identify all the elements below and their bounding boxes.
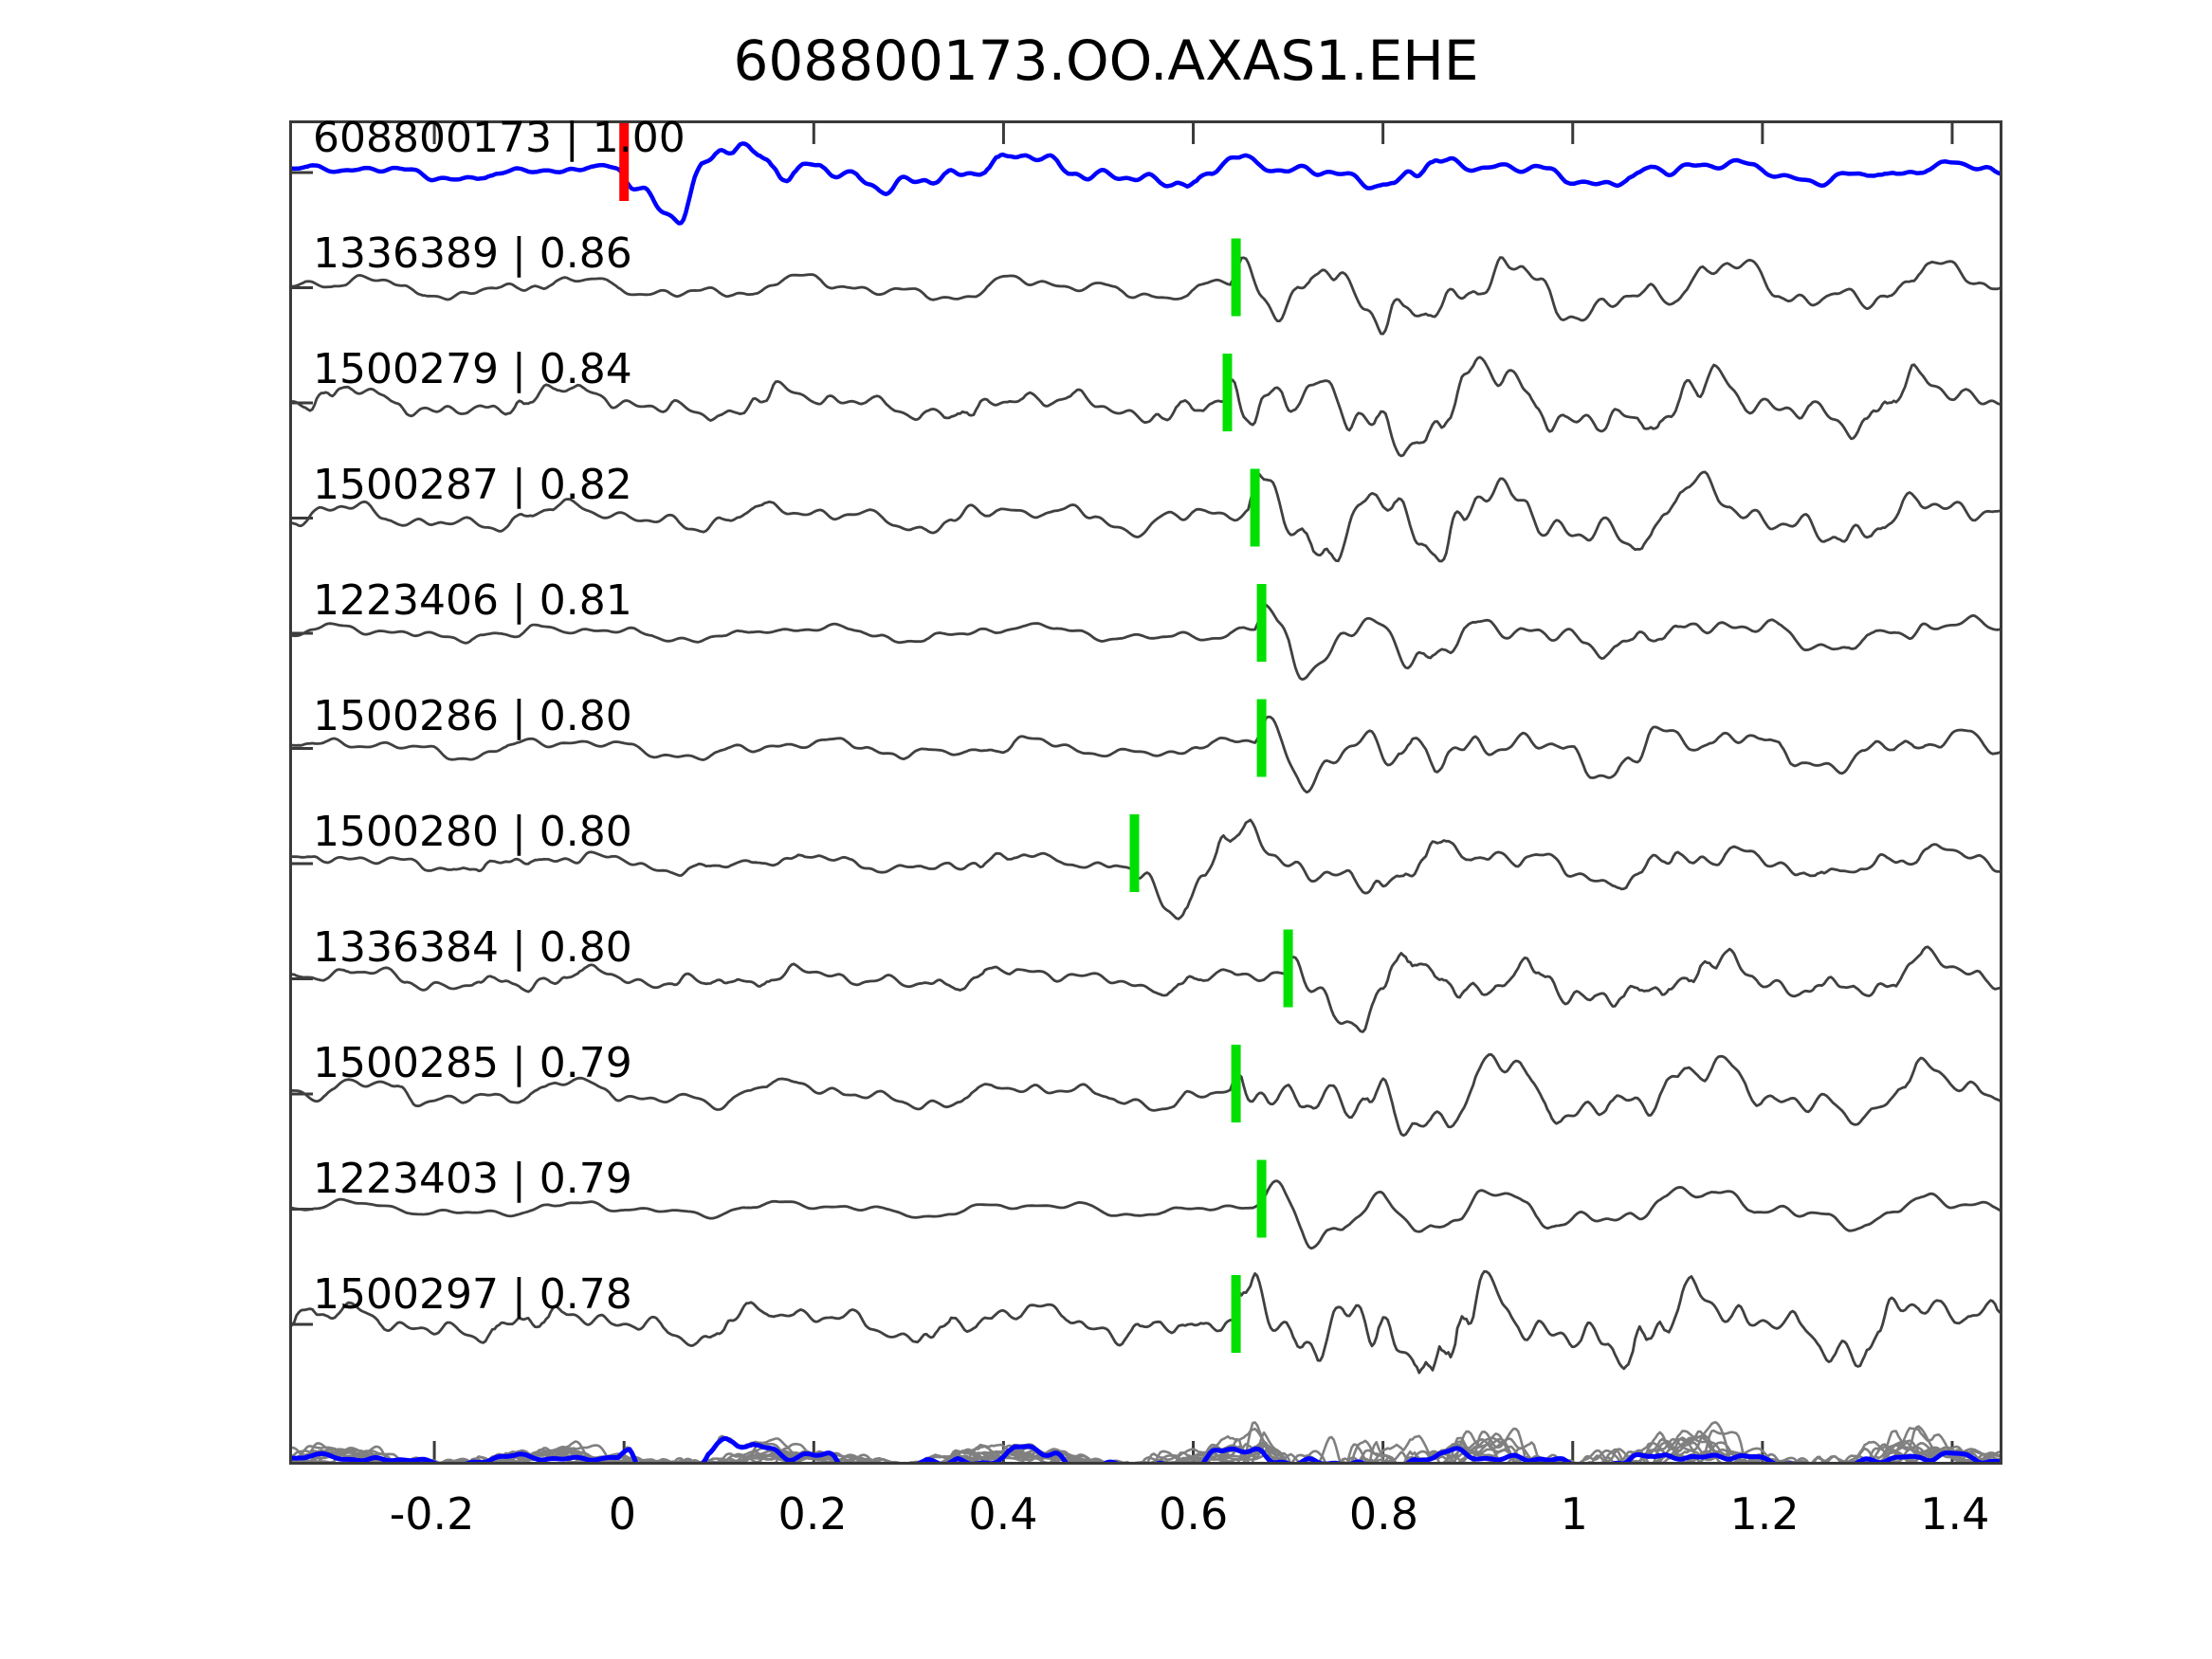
trace-label: 1336389 | 0.86 bbox=[313, 229, 632, 278]
x-tick-label: 0.6 bbox=[1159, 1488, 1228, 1540]
waveform-canvas bbox=[292, 123, 2000, 1462]
pick-marker bbox=[1257, 584, 1267, 662]
trace-label: 1500287 | 0.82 bbox=[313, 461, 632, 509]
trace-label: 1500297 | 0.78 bbox=[313, 1270, 632, 1319]
trace-label: 1500279 | 0.84 bbox=[313, 345, 632, 393]
pick-marker bbox=[1251, 469, 1260, 547]
pick-marker bbox=[1257, 1160, 1267, 1238]
trace-label: 1500285 | 0.79 bbox=[313, 1039, 632, 1087]
x-axis-tick-labels: -0.200.20.40.60.811.21.4 bbox=[0, 1488, 2212, 1555]
x-tick-label: -0.2 bbox=[390, 1488, 475, 1540]
x-tick-label: 0.8 bbox=[1349, 1488, 1418, 1540]
x-tick-label: 0.4 bbox=[968, 1488, 1037, 1540]
trace-label: 1336384 | 0.80 bbox=[313, 923, 632, 972]
x-tick-label: 0 bbox=[609, 1488, 636, 1540]
pick-marker bbox=[1284, 930, 1293, 1008]
page-title: 608800173.OO.AXAS1.EHE bbox=[0, 28, 2212, 93]
pick-marker bbox=[1257, 700, 1267, 777]
trace-label: 1223406 | 0.81 bbox=[313, 576, 632, 625]
trace-label: 608800173 | 1.00 bbox=[313, 114, 686, 162]
pick-marker bbox=[1223, 354, 1233, 431]
waveform-figure: 608800173.OO.AXAS1.EHE 608800173 | 1.001… bbox=[0, 0, 2212, 1659]
plot-area: 608800173 | 1.001336389 | 0.861500279 | … bbox=[289, 120, 2002, 1465]
pick-marker bbox=[1232, 1275, 1241, 1353]
pick-marker bbox=[1232, 1045, 1241, 1122]
trace-label: 1500280 | 0.80 bbox=[313, 808, 632, 856]
trace-label: 1500286 | 0.80 bbox=[313, 692, 632, 740]
pick-marker bbox=[1232, 239, 1241, 317]
x-tick-label: 1.4 bbox=[1920, 1488, 1989, 1540]
trace-label: 1223403 | 0.79 bbox=[313, 1155, 632, 1203]
x-tick-label: 1 bbox=[1561, 1488, 1588, 1540]
x-tick-label: 0.2 bbox=[778, 1488, 848, 1540]
pick-marker bbox=[1130, 814, 1140, 892]
x-tick-label: 1.2 bbox=[1729, 1488, 1799, 1540]
